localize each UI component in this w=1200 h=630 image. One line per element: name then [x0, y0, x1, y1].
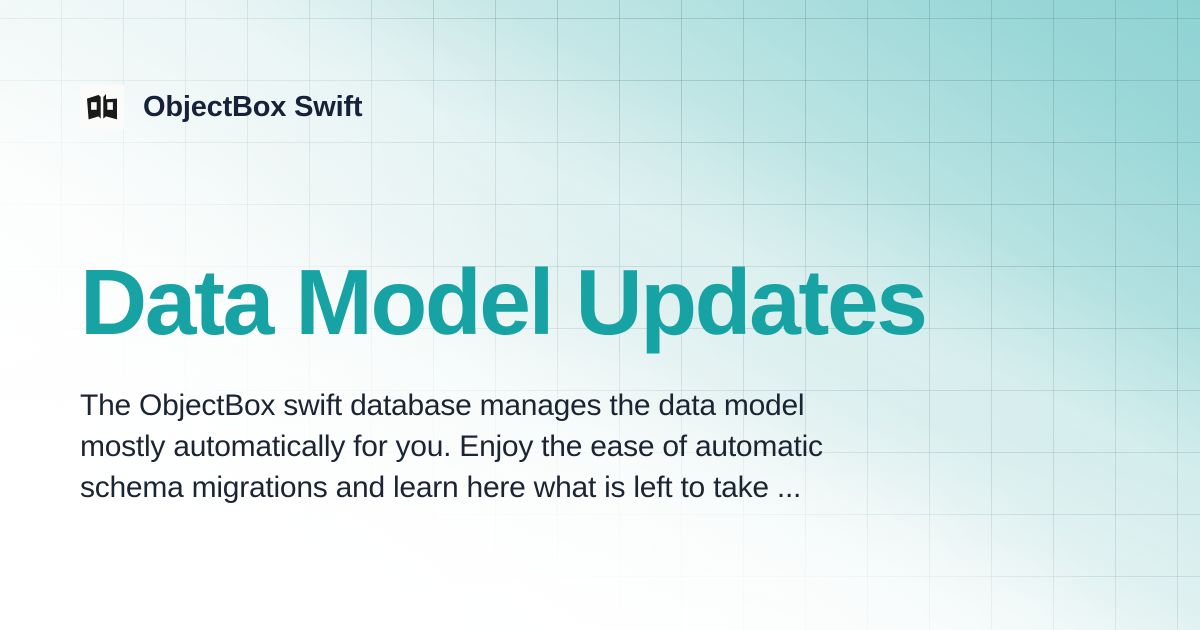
- brand-name: ObjectBox Swift: [143, 93, 362, 122]
- page-description: The ObjectBox swift database manages the…: [80, 385, 880, 508]
- brand-lockup: ObjectBox Swift: [80, 85, 362, 129]
- og-card: ObjectBox Swift Data Model Updates The O…: [0, 0, 1200, 630]
- card-content: ObjectBox Swift Data Model Updates The O…: [0, 0, 1200, 630]
- objectbox-open-book-logo-icon: [80, 85, 124, 129]
- page-title: Data Model Updates: [80, 256, 926, 349]
